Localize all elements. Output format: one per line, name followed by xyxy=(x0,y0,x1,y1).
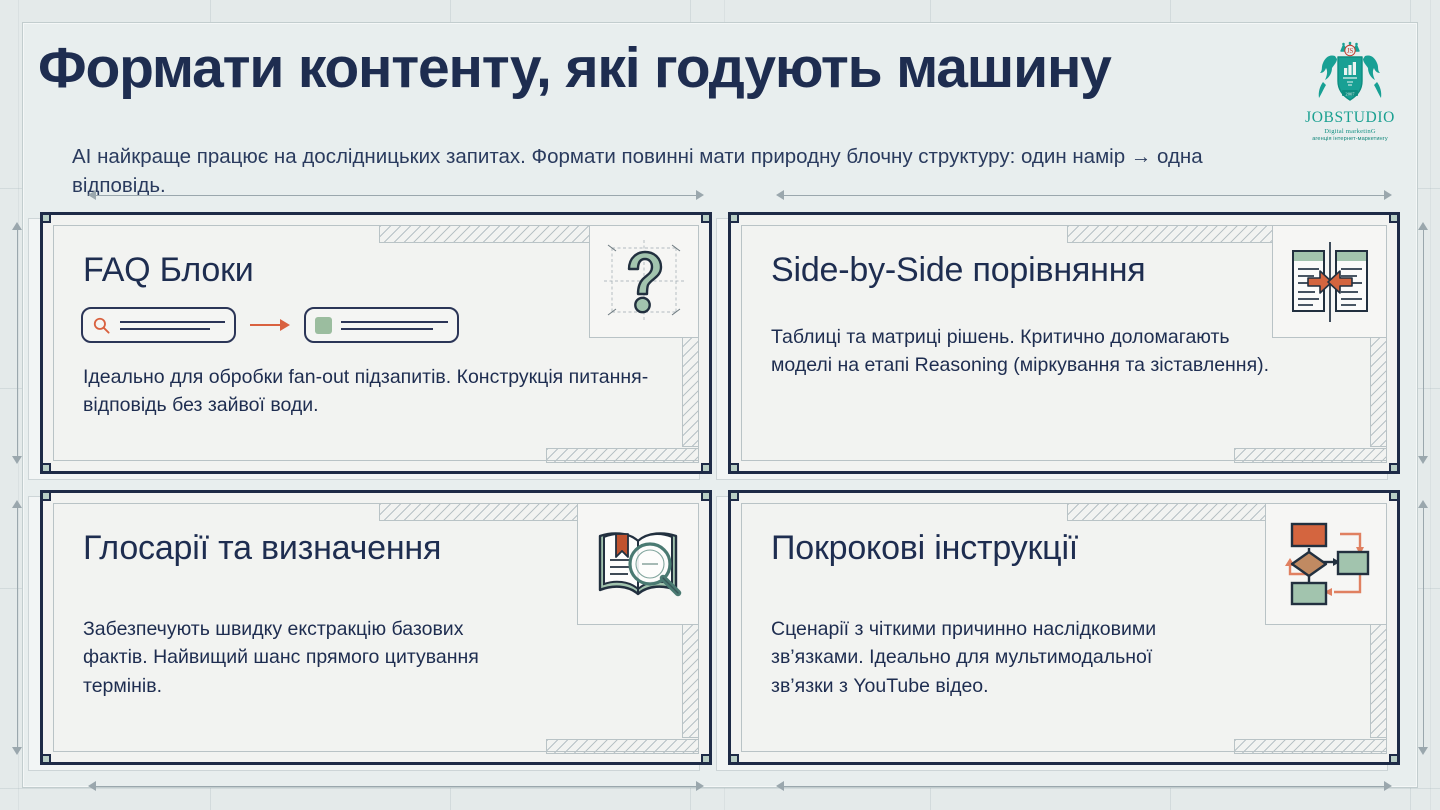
resize-handle-bottom-right[interactable] xyxy=(1389,463,1400,474)
card-step-by-step[interactable]: Покрокові інструкції Сценарії з чіткими … xyxy=(728,490,1400,765)
resize-handle-top-left[interactable] xyxy=(40,212,51,223)
card-glossary[interactable]: Глосарії та визначення Забезпечують швид… xyxy=(40,490,712,765)
question-text-lines xyxy=(120,321,225,330)
resize-handle-top-left[interactable] xyxy=(40,490,51,501)
crest-year: 2007 xyxy=(1345,92,1355,97)
jobstudio-logo: JS 2007 JOBSTUDIO Digital marketinG аген… xyxy=(1294,40,1406,146)
resize-handle-bottom-left[interactable] xyxy=(40,754,51,765)
card-description: Ідеально для обробки fan-out підзапитів.… xyxy=(83,363,663,420)
resize-handle-top-right[interactable] xyxy=(1389,490,1400,501)
dimension-line-bottom xyxy=(776,781,1392,791)
resize-handle-bottom-right[interactable] xyxy=(701,754,712,765)
card-body: FAQ Блоки xyxy=(40,212,712,474)
hatch-band-right xyxy=(1370,613,1387,738)
logo-brand: JOBSTUDIO xyxy=(1305,110,1395,126)
dimension-line-bottom xyxy=(88,781,704,791)
hatch-band-bottom xyxy=(546,448,699,463)
hatch-band-right xyxy=(682,613,699,738)
search-icon xyxy=(92,316,111,335)
resize-handle-bottom-left[interactable] xyxy=(728,463,739,474)
page-title: Формати контенту, які годують машину xyxy=(38,38,1111,98)
resize-handle-bottom-left[interactable] xyxy=(40,463,51,474)
resize-handle-top-right[interactable] xyxy=(701,490,712,501)
card-description: Забезпечують швидку екстракцію базових ф… xyxy=(83,615,513,700)
crest-icon: JS 2007 xyxy=(1311,40,1389,112)
card-title: Глосарії та визначення xyxy=(83,529,441,567)
hatch-band-bottom xyxy=(546,739,699,754)
card-title: Side-by-Side порівняння xyxy=(771,251,1146,289)
dimension-line-top xyxy=(776,190,1392,200)
logo-tagline-1: Digital marketinG xyxy=(1324,128,1376,135)
flow-arrow-icon xyxy=(250,319,290,331)
resize-handle-top-right[interactable] xyxy=(1389,212,1400,223)
faq-flow-illustration xyxy=(81,307,459,343)
hatch-band-right xyxy=(1370,335,1387,447)
answer-box xyxy=(304,307,459,343)
resize-handle-top-left[interactable] xyxy=(728,490,739,501)
crest-monogram: JS xyxy=(1347,47,1354,55)
logo-tagline-2: агенція інтернет-маркетингу xyxy=(1312,136,1388,142)
dimension-line-right xyxy=(1418,222,1428,464)
card-description: Сценарії з чіткими причинно наслідковими… xyxy=(771,615,1211,700)
card-body: Глосарії та визначення Забезпечують швид… xyxy=(40,490,712,765)
card-faq[interactable]: FAQ Блоки xyxy=(40,212,712,474)
resize-handle-top-left[interactable] xyxy=(728,212,739,223)
card-title: FAQ Блоки xyxy=(83,251,254,289)
hatch-band-right xyxy=(682,335,699,447)
dimension-line-top xyxy=(88,190,704,200)
hatch-band-bottom xyxy=(1234,739,1387,754)
resize-handle-bottom-right[interactable] xyxy=(701,463,712,474)
card-title: Покрокові інструкції xyxy=(771,529,1078,567)
comparison-documents-icon xyxy=(1272,225,1387,338)
answer-marker-icon xyxy=(315,317,332,334)
question-box xyxy=(81,307,236,343)
dimension-line-left xyxy=(12,222,22,464)
card-description: Таблиці та матриці рішень. Критично доло… xyxy=(771,323,1271,380)
card-side-by-side[interactable]: Side-by-Side порівняння Таблиці та матри… xyxy=(728,212,1400,474)
resize-handle-bottom-left[interactable] xyxy=(728,754,739,765)
card-body: Покрокові інструкції Сценарії з чіткими … xyxy=(728,490,1400,765)
book-magnifier-icon xyxy=(577,503,699,625)
hatch-band-bottom xyxy=(1234,448,1387,463)
dimension-line-left xyxy=(12,500,22,755)
answer-text-lines xyxy=(341,321,448,330)
flowchart-icon xyxy=(1265,503,1387,625)
card-body: Side-by-Side порівняння Таблиці та матри… xyxy=(728,212,1400,474)
dimension-line-right xyxy=(1418,500,1428,755)
resize-handle-bottom-right[interactable] xyxy=(1389,754,1400,765)
question-mark-icon xyxy=(589,225,699,338)
resize-handle-top-right[interactable] xyxy=(701,212,712,223)
